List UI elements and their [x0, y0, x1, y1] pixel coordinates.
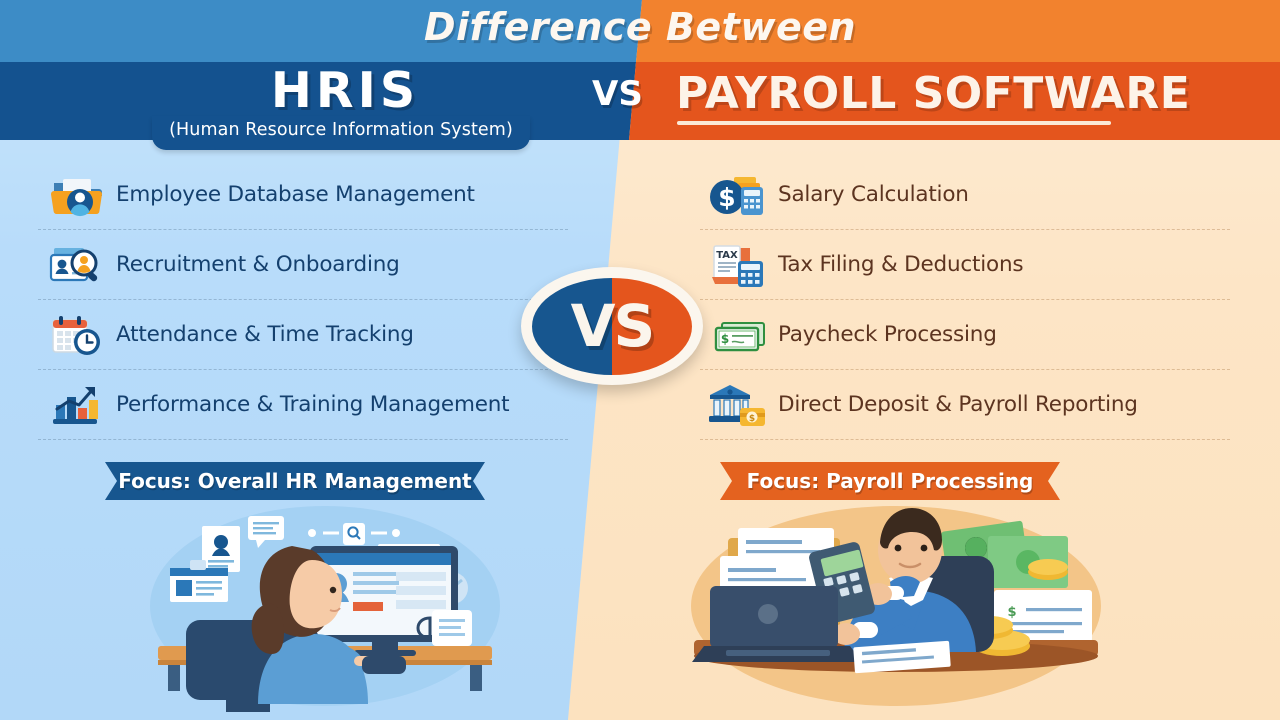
svg-text:$: $	[1007, 605, 1016, 620]
id-card-search-icon	[38, 241, 116, 289]
right-illustration: $	[676, 498, 1116, 720]
list-item-label: Employee Database Management	[116, 182, 475, 207]
list-item[interactable]: Employee Database Management	[38, 160, 568, 230]
left-focus-banner-label: Focus: Overall HR Management	[118, 469, 472, 493]
list-item[interactable]: Attendance & Time Tracking	[38, 300, 568, 370]
list-item[interactable]: Recruitment & Onboarding	[38, 230, 568, 300]
list-item[interactable]: $ Direct Deposit & Payroll Reporting	[700, 370, 1230, 440]
left-focus-banner: Focus: Overall HR Management	[105, 462, 485, 500]
list-item-label: Direct Deposit & Payroll Reporting	[778, 392, 1138, 417]
vs-badge-label: VS	[571, 297, 654, 355]
svg-text:TAX: TAX	[716, 250, 738, 261]
page-title: Difference Between	[0, 5, 1280, 49]
infographic-canvas: Difference Between HRIS (Human Resource …	[0, 0, 1280, 720]
calendar-clock-icon	[38, 311, 116, 359]
list-item[interactable]: $ Paycheck Processing	[700, 300, 1230, 370]
bank-money-icon: $	[700, 380, 778, 430]
list-item[interactable]: $ Salary Calculation	[700, 160, 1230, 230]
money-calculator-icon: $	[700, 171, 778, 219]
list-item-label: Paycheck Processing	[778, 322, 997, 347]
left-panel-title: HRIS	[150, 62, 540, 119]
list-item-label: Recruitment & Onboarding	[116, 252, 400, 277]
cheque-icon: $	[700, 311, 778, 359]
svg-text:$: $	[749, 414, 755, 424]
folder-user-icon	[38, 171, 116, 219]
vs-badge-inner: VS	[532, 278, 692, 375]
list-item[interactable]: TAX Tax Filing & Deductions	[700, 230, 1230, 300]
list-item-label: Attendance & Time Tracking	[116, 322, 414, 347]
right-focus-banner-label: Focus: Payroll Processing	[747, 469, 1034, 493]
list-item[interactable]: Performance & Training Management	[38, 370, 568, 440]
right-focus-banner: Focus: Payroll Processing	[720, 462, 1060, 500]
right-title-underline	[677, 121, 1111, 125]
bar-chart-growth-icon	[38, 381, 116, 429]
right-panel-title: PAYROLL SOFTWARE	[676, 68, 1190, 119]
list-item-label: Tax Filing & Deductions	[778, 252, 1023, 277]
header-vs-label: VS	[592, 74, 643, 114]
vs-badge: VS	[521, 267, 703, 385]
left-feature-list: Employee Database Management R	[38, 160, 568, 440]
list-item-label: Salary Calculation	[778, 182, 969, 207]
svg-text:$: $	[721, 332, 729, 346]
left-panel-subtitle: (Human Resource Information System)	[152, 120, 530, 140]
left-illustration	[140, 498, 510, 720]
right-feature-list: $ Salary Calculation TAX	[700, 160, 1230, 440]
svg-text:$: $	[718, 183, 735, 212]
list-item-label: Performance & Training Management	[116, 392, 509, 417]
tax-form-calculator-icon: TAX	[700, 241, 778, 289]
